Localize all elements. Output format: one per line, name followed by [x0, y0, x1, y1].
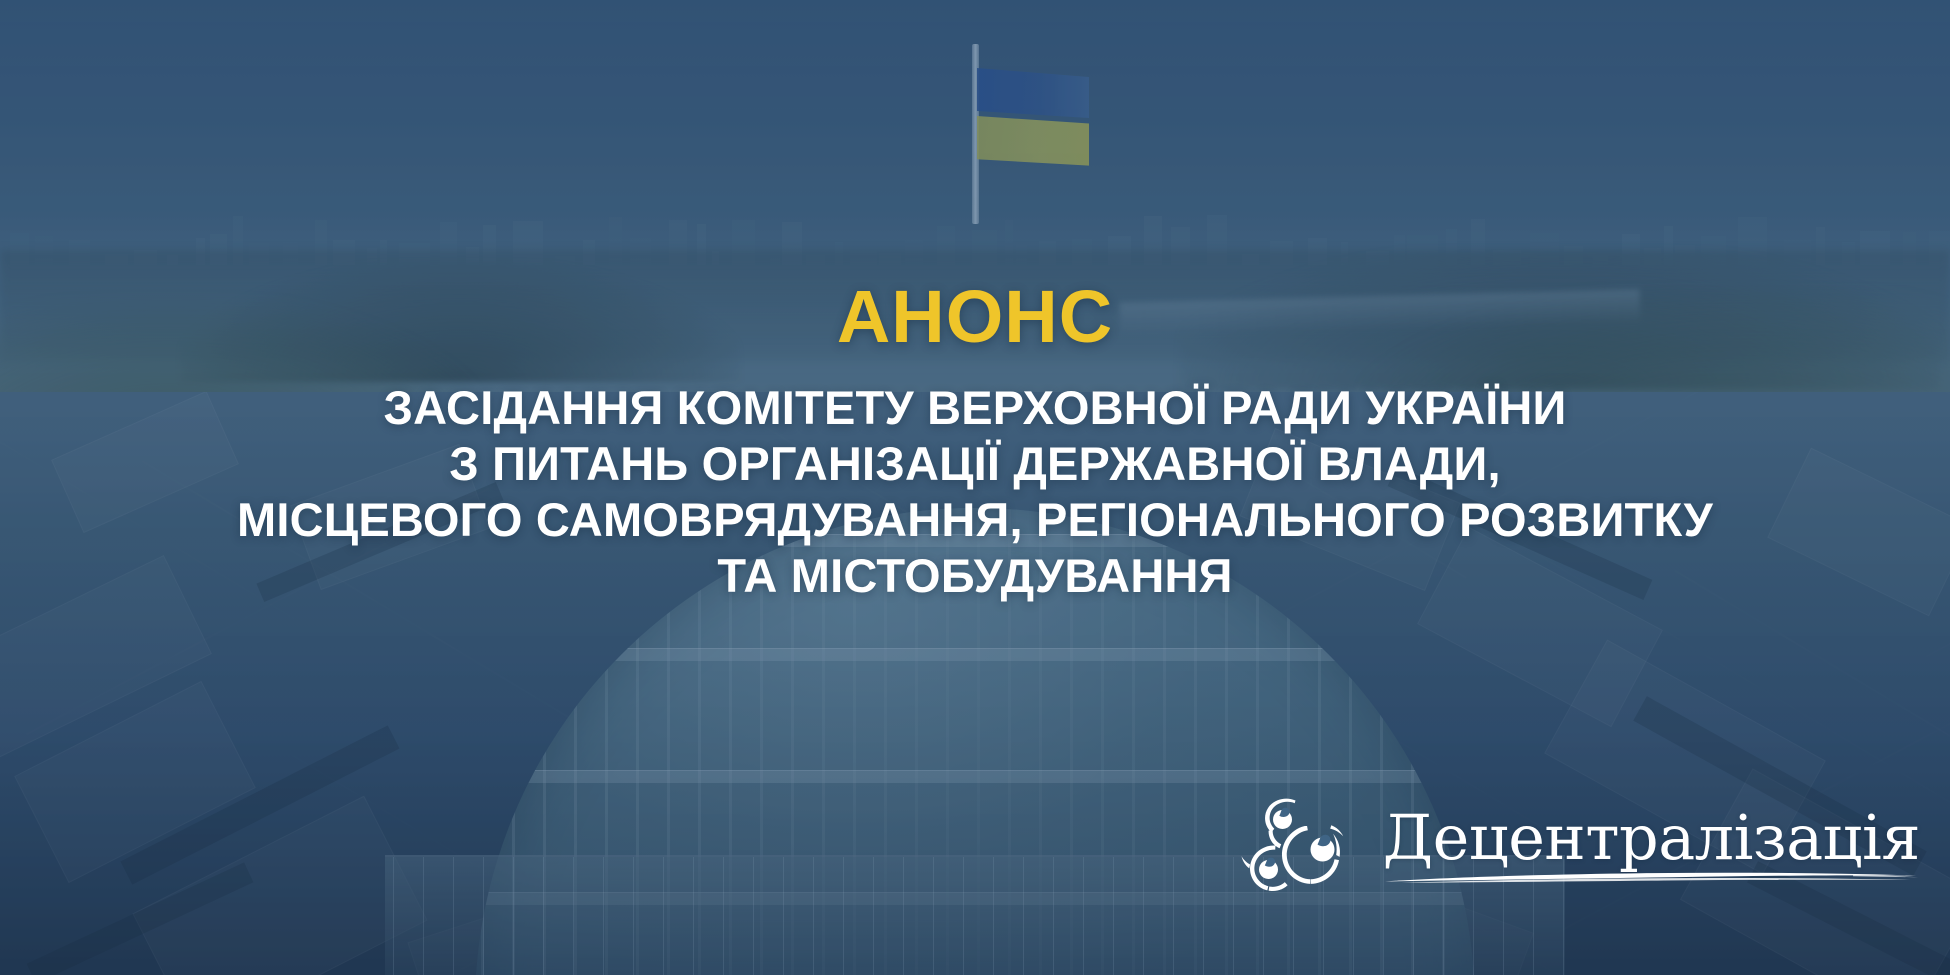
logo-wordmark: Децентралізація	[1383, 806, 1920, 869]
headline-line-1: ЗАСІДАННЯ КОМІТЕТУ ВЕРХОВНОЇ РАДИ УКРАЇН…	[237, 380, 1713, 436]
kicker-label: АНОНС	[837, 280, 1113, 354]
three-people-circles-emblem-icon	[1235, 793, 1367, 897]
announcement-poster: АНОНС ЗАСІДАННЯ КОМІТЕТУ ВЕРХОВНОЇ РАДИ …	[0, 0, 1950, 975]
headline-line-3: МІСЦЕВОГО САМОВРЯДУВАННЯ, РЕГІОНАЛЬНОГО …	[237, 492, 1713, 548]
headline-block: ЗАСІДАННЯ КОМІТЕТУ ВЕРХОВНОЇ РАДИ УКРАЇН…	[237, 380, 1713, 604]
decentralization-logo: Децентралізація	[1235, 793, 1920, 897]
headline-line-2: З ПИТАНЬ ОРГАНІЗАЦІЇ ДЕРЖАВНОЇ ВЛАДИ,	[237, 436, 1713, 492]
logo-text-block: Децентралізація	[1383, 806, 1920, 883]
brush-stroke-underline-icon	[1383, 868, 1920, 884]
headline-line-4: ТА МІСТОБУДУВАННЯ	[237, 548, 1713, 604]
